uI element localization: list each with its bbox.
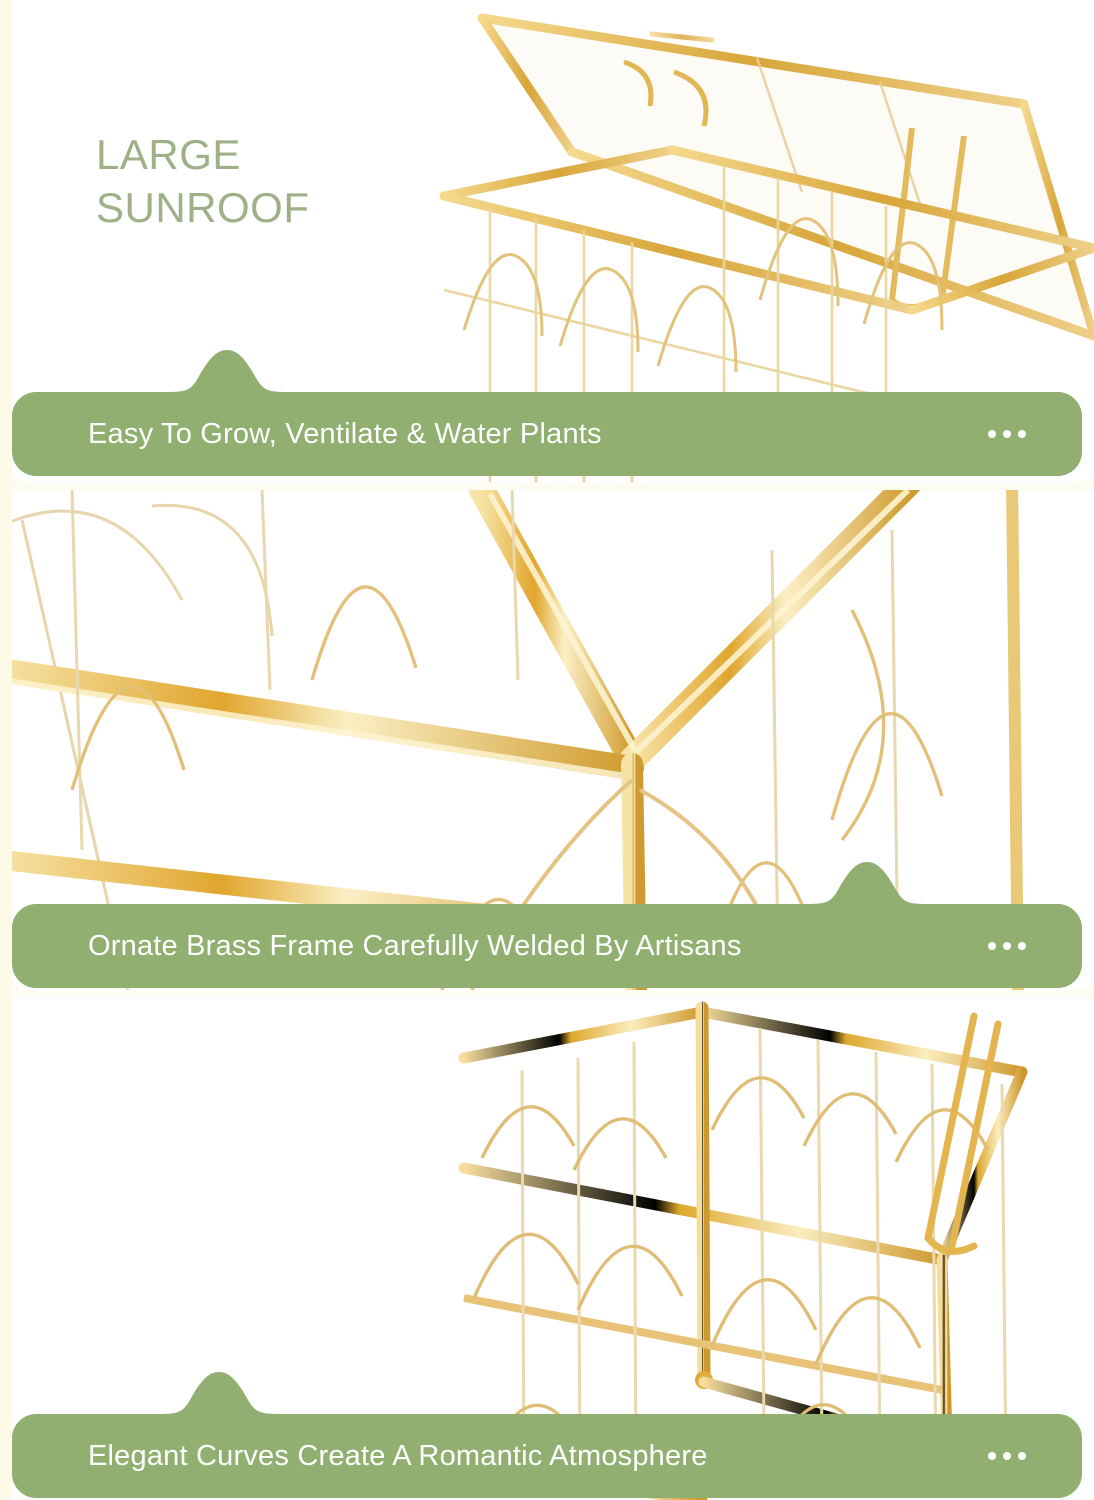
- caption-bar-handmade-frame[interactable]: Ornate Brass Frame Carefully Welded By A…: [12, 904, 1082, 988]
- section-heading-large-sunroof: LARGE SUNROOF: [96, 128, 310, 235]
- ellipsis-icon[interactable]: [988, 1414, 1026, 1498]
- ellipsis-icon[interactable]: [988, 392, 1026, 476]
- ellipsis-icon[interactable]: [988, 904, 1026, 988]
- caption-text: Elegant Curves Create A Romantic Atmosph…: [88, 1414, 708, 1498]
- caption-text: Easy To Grow, Ventilate & Water Plants: [88, 392, 602, 476]
- product-feature-infographic: LARGE SUNROOF Easy To Grow, Ventilate & …: [0, 0, 1094, 1500]
- caption-bar-circular-line-design[interactable]: Elegant Curves Create A Romantic Atmosph…: [12, 1414, 1082, 1498]
- caption-bar-large-sunroof[interactable]: Easy To Grow, Ventilate & Water Plants: [12, 392, 1082, 476]
- caption-text: Ornate Brass Frame Carefully Welded By A…: [88, 904, 742, 988]
- page-edge-strip: [0, 0, 12, 1500]
